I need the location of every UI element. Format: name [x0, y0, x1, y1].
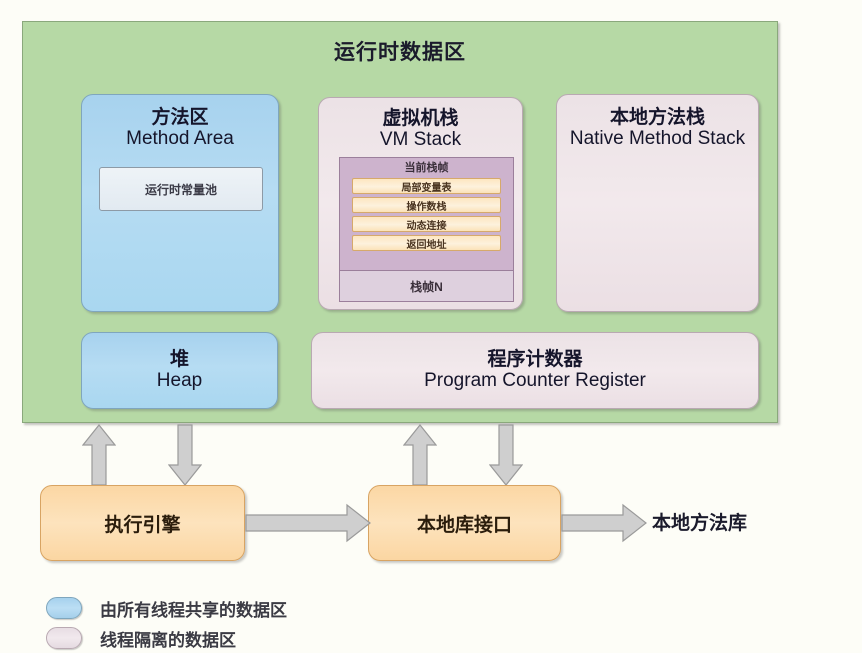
method-area-title-en: Method Area — [126, 128, 234, 150]
arrow-engine-to-native-interface — [245, 503, 371, 543]
legend-item-shared: 由所有线程共享的数据区 — [46, 593, 287, 623]
heap-title-cn: 堆 — [170, 349, 189, 370]
arrow-up-engine-to-runtime — [82, 424, 116, 486]
native-method-stack-title-cn: 本地方法栈 — [610, 107, 705, 128]
execution-engine-label: 执行引擎 — [104, 510, 180, 537]
method-area-title-cn: 方法区 — [151, 107, 208, 128]
pc-register-title-en: Program Counter Register — [424, 370, 646, 392]
native-interface-box[interactable]: 本地库接口 — [368, 485, 561, 561]
native-method-stack-box[interactable]: 本地方法栈 Native Method Stack — [556, 94, 759, 312]
page-title: 运行时数据区 — [23, 36, 777, 66]
arrow-down-runtime-to-native — [489, 424, 523, 486]
frame-n-box[interactable]: 栈帧N — [339, 271, 514, 302]
program-counter-register-box[interactable]: 程序计数器 Program Counter Register — [311, 332, 759, 409]
execution-engine-box[interactable]: 执行引擎 — [40, 485, 245, 561]
heap-box[interactable]: 堆 Heap — [81, 332, 278, 409]
legend: 由所有线程共享的数据区 线程隔离的数据区 — [46, 593, 287, 653]
legend-swatch-shared — [46, 597, 82, 619]
vm-stack-title-cn: 虚拟机栈 — [382, 108, 458, 129]
arrow-down-runtime-to-engine — [168, 424, 202, 486]
current-stack-frame-box: 当前栈帧 局部变量表 操作数栈 动态连接 返回地址 — [339, 157, 514, 271]
vm-stack-title-en: VM Stack — [380, 129, 461, 151]
frame-slot-dynamic-linking[interactable]: 动态连接 — [352, 216, 501, 232]
native-method-library-label: 本地方法库 — [652, 508, 747, 535]
legend-label-isolated: 线程隔离的数据区 — [100, 626, 236, 651]
runtime-data-area-panel: 运行时数据区 方法区 Method Area 运行时常量池 虚拟机栈 VM St… — [22, 21, 778, 423]
arrow-up-native-to-runtime — [403, 424, 437, 486]
legend-swatch-isolated — [46, 627, 82, 649]
current-stack-frame-label: 当前栈帧 — [352, 161, 501, 175]
frame-slot-operand-stack[interactable]: 操作数栈 — [352, 197, 501, 213]
frame-slot-local-variable-table[interactable]: 局部变量表 — [352, 178, 501, 194]
method-area-box[interactable]: 方法区 Method Area 运行时常量池 — [81, 94, 279, 312]
heap-title-en: Heap — [157, 370, 202, 392]
vm-stack-box[interactable]: 虚拟机栈 VM Stack 当前栈帧 局部变量表 操作数栈 动态连接 返回地址 … — [318, 97, 523, 310]
pc-register-title-cn: 程序计数器 — [487, 349, 582, 370]
native-method-stack-title-en: Native Method Stack — [570, 128, 745, 150]
arrow-native-interface-to-library — [561, 503, 647, 543]
native-interface-label: 本地库接口 — [417, 510, 512, 537]
legend-label-shared: 由所有线程共享的数据区 — [100, 596, 287, 621]
frame-slot-return-address[interactable]: 返回地址 — [352, 235, 501, 251]
legend-item-isolated: 线程隔离的数据区 — [46, 623, 287, 653]
runtime-constant-pool-box[interactable]: 运行时常量池 — [99, 167, 263, 211]
